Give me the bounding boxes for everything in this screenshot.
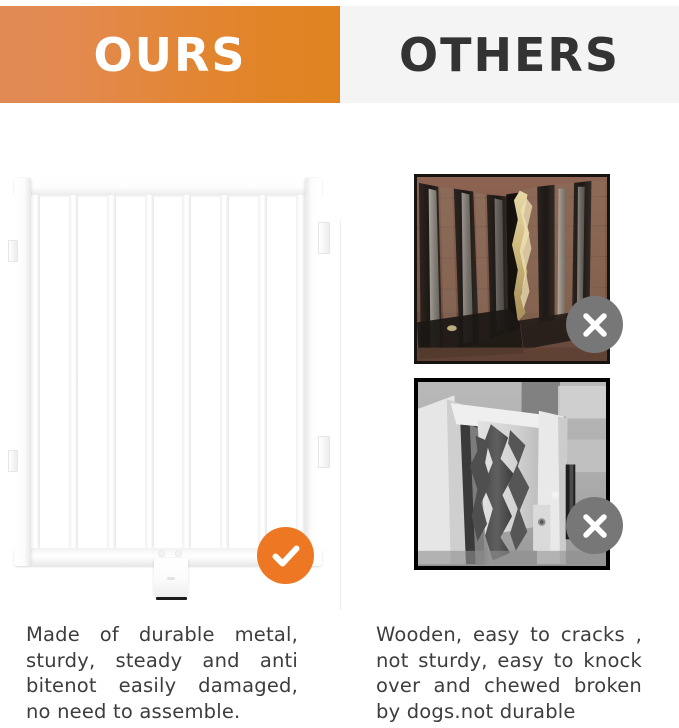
- gate-bar: [296, 195, 305, 548]
- x-icon: [566, 296, 623, 353]
- check-icon: [257, 527, 314, 584]
- gate-bar: [31, 195, 40, 548]
- gate-hinge-left-top: [8, 240, 18, 262]
- gate-frame-top: [14, 178, 322, 195]
- bracket-shadow: [156, 597, 187, 600]
- gate-bar: [220, 195, 229, 548]
- ours-caption-text: Made of durable metal, sturdy, steady an…: [26, 622, 298, 724]
- bracket-slot: [167, 577, 175, 580]
- gate-hinge-right-top: [318, 222, 330, 254]
- gate-bar: [107, 195, 116, 548]
- gate-hinge-left-bottom: [8, 450, 18, 472]
- gate-bar: [145, 195, 154, 548]
- gate-bar: [258, 195, 267, 548]
- others-caption: Wooden, easy to cracks , not sturdy, eas…: [376, 622, 642, 724]
- bracket-screw-hole: [175, 550, 182, 557]
- bracket-screw-hole: [158, 550, 165, 557]
- white-metal-gate-image: [14, 178, 322, 566]
- gate-hinge-right-bottom: [318, 436, 330, 468]
- gate-bar: [69, 195, 78, 548]
- banner-ours-label: OURS: [93, 32, 246, 78]
- ours-caption: Made of durable metal, sturdy, steady an…: [26, 622, 298, 724]
- gate-mounting-bracket: [154, 558, 188, 596]
- banner-ours: OURS: [0, 6, 340, 103]
- comparison-header: OURS OTHERS: [0, 0, 679, 104]
- gate-frame-left: [14, 178, 31, 566]
- banner-others-label: OTHERS: [399, 32, 620, 78]
- column-divider: [340, 220, 341, 610]
- others-caption-text: Wooden, easy to cracks , not sturdy, eas…: [376, 622, 642, 724]
- x-icon: [566, 497, 623, 554]
- banner-others: OTHERS: [340, 6, 679, 103]
- gate-bar-group: [31, 195, 305, 548]
- gate-bar: [182, 195, 191, 548]
